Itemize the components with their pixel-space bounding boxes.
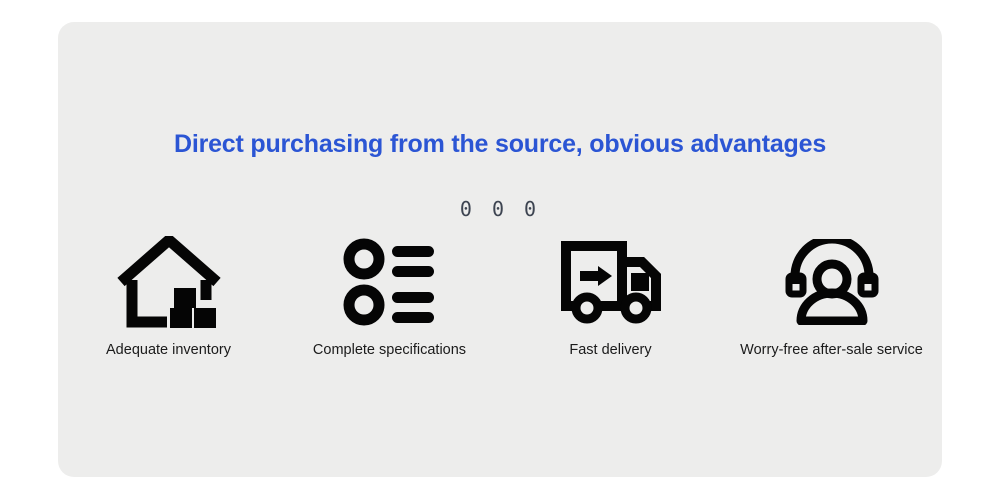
promo-banner: Direct purchasing from the source, obvio…	[0, 0, 1000, 499]
feature-label: Fast delivery	[569, 342, 651, 358]
feature-item-after-sale-service: Worry-free after-sale service	[721, 232, 942, 358]
feature-item-complete-specifications: Complete specifications	[279, 232, 500, 358]
feature-item-fast-delivery: Fast delivery	[500, 232, 721, 358]
specification-list-icon	[342, 232, 438, 332]
delivery-truck-icon	[560, 232, 662, 332]
feature-list: Adequate inventory Complete specificatio…	[58, 232, 942, 358]
feature-panel: Direct purchasing from the source, obvio…	[58, 22, 942, 477]
feature-label: Complete specifications	[313, 342, 466, 358]
page-title: Direct purchasing from the source, obvio…	[58, 130, 942, 159]
feature-label: Adequate inventory	[106, 342, 231, 358]
feature-item-adequate-inventory: Adequate inventory	[58, 232, 279, 358]
divider-dots: 0 0 0	[58, 197, 942, 221]
feature-label: Worry-free after-sale service	[740, 342, 923, 358]
warehouse-house-boxes-icon	[117, 232, 221, 332]
customer-service-headset-icon	[784, 232, 880, 332]
